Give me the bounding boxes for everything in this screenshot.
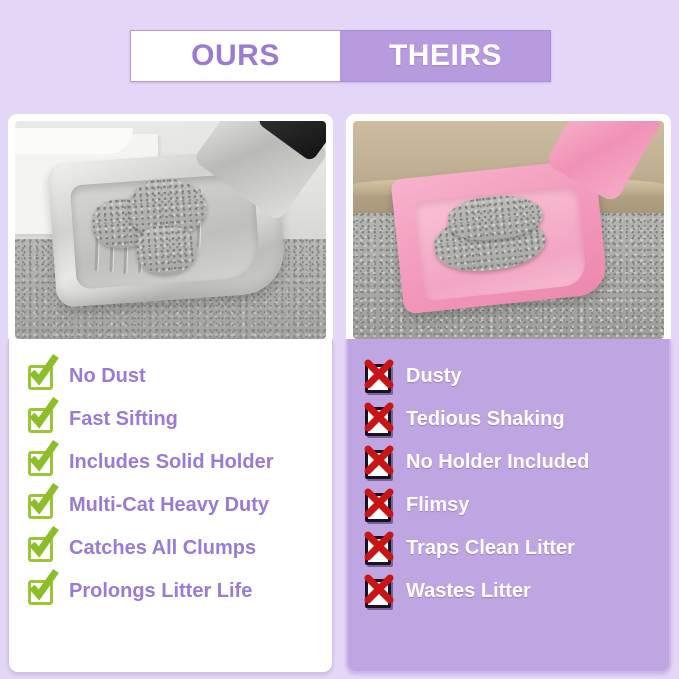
theirs-product-photo <box>353 121 664 339</box>
list-item-label: No Dust <box>69 365 146 388</box>
red-x-icon <box>362 575 396 609</box>
green-check-icon <box>25 489 59 523</box>
list-item: Prolongs Litter Life <box>9 570 332 613</box>
list-item: Flimsy <box>348 484 669 527</box>
red-x-icon <box>362 360 396 394</box>
list-item-label: Includes Solid Holder <box>69 451 273 474</box>
green-check-icon <box>25 532 59 566</box>
red-x-icon <box>362 532 396 566</box>
list-item-label: Multi-Cat Heavy Duty <box>69 494 269 517</box>
list-item: Dusty <box>348 355 669 398</box>
list-item-label: Fast Sifting <box>69 408 178 431</box>
litter-box-rim-edge <box>15 128 133 154</box>
comparison-infographic: OURS THEIRS <box>0 0 679 679</box>
red-x-icon <box>362 446 396 480</box>
header-theirs: THEIRS <box>341 30 551 82</box>
list-item: Multi-Cat Heavy Duty <box>9 484 332 527</box>
green-check-icon <box>25 360 59 394</box>
theirs-column: Dusty Tedious Shaking No Holder Included <box>346 114 671 673</box>
list-item: No Holder Included <box>348 441 669 484</box>
list-item: Fast Sifting <box>9 398 332 441</box>
list-item: Includes Solid Holder <box>9 441 332 484</box>
list-item-label: Prolongs Litter Life <box>69 580 252 603</box>
list-item-label: No Holder Included <box>406 451 589 474</box>
green-check-icon <box>25 575 59 609</box>
list-item-label: Tedious Shaking <box>406 408 565 431</box>
list-item: No Dust <box>9 355 332 398</box>
theirs-photo-frame <box>346 114 671 339</box>
list-item: Traps Clean Litter <box>348 527 669 570</box>
list-item-label: Catches All Clumps <box>69 537 256 560</box>
list-item-label: Dusty <box>406 365 462 388</box>
ours-feature-list: No Dust Fast Sifting Includes Solid Hold… <box>8 339 333 673</box>
green-check-icon <box>25 403 59 437</box>
comparison-header: OURS THEIRS <box>130 30 551 82</box>
list-item: Tedious Shaking <box>348 398 669 441</box>
pink-scoop <box>390 159 608 315</box>
red-x-icon <box>362 403 396 437</box>
ours-photo-frame <box>8 114 333 339</box>
ours-column: No Dust Fast Sifting Includes Solid Hold… <box>8 114 333 673</box>
red-x-icon <box>362 489 396 523</box>
ours-product-photo <box>15 121 326 339</box>
theirs-feature-list: Dusty Tedious Shaking No Holder Included <box>346 339 671 673</box>
list-item: Wastes Litter <box>348 570 669 613</box>
green-check-icon <box>25 446 59 480</box>
list-item: Catches All Clumps <box>9 527 332 570</box>
header-ours: OURS <box>130 30 341 82</box>
list-item-label: Traps Clean Litter <box>406 537 575 560</box>
list-item-label: Wastes Litter <box>406 580 531 603</box>
list-item-label: Flimsy <box>406 494 469 517</box>
